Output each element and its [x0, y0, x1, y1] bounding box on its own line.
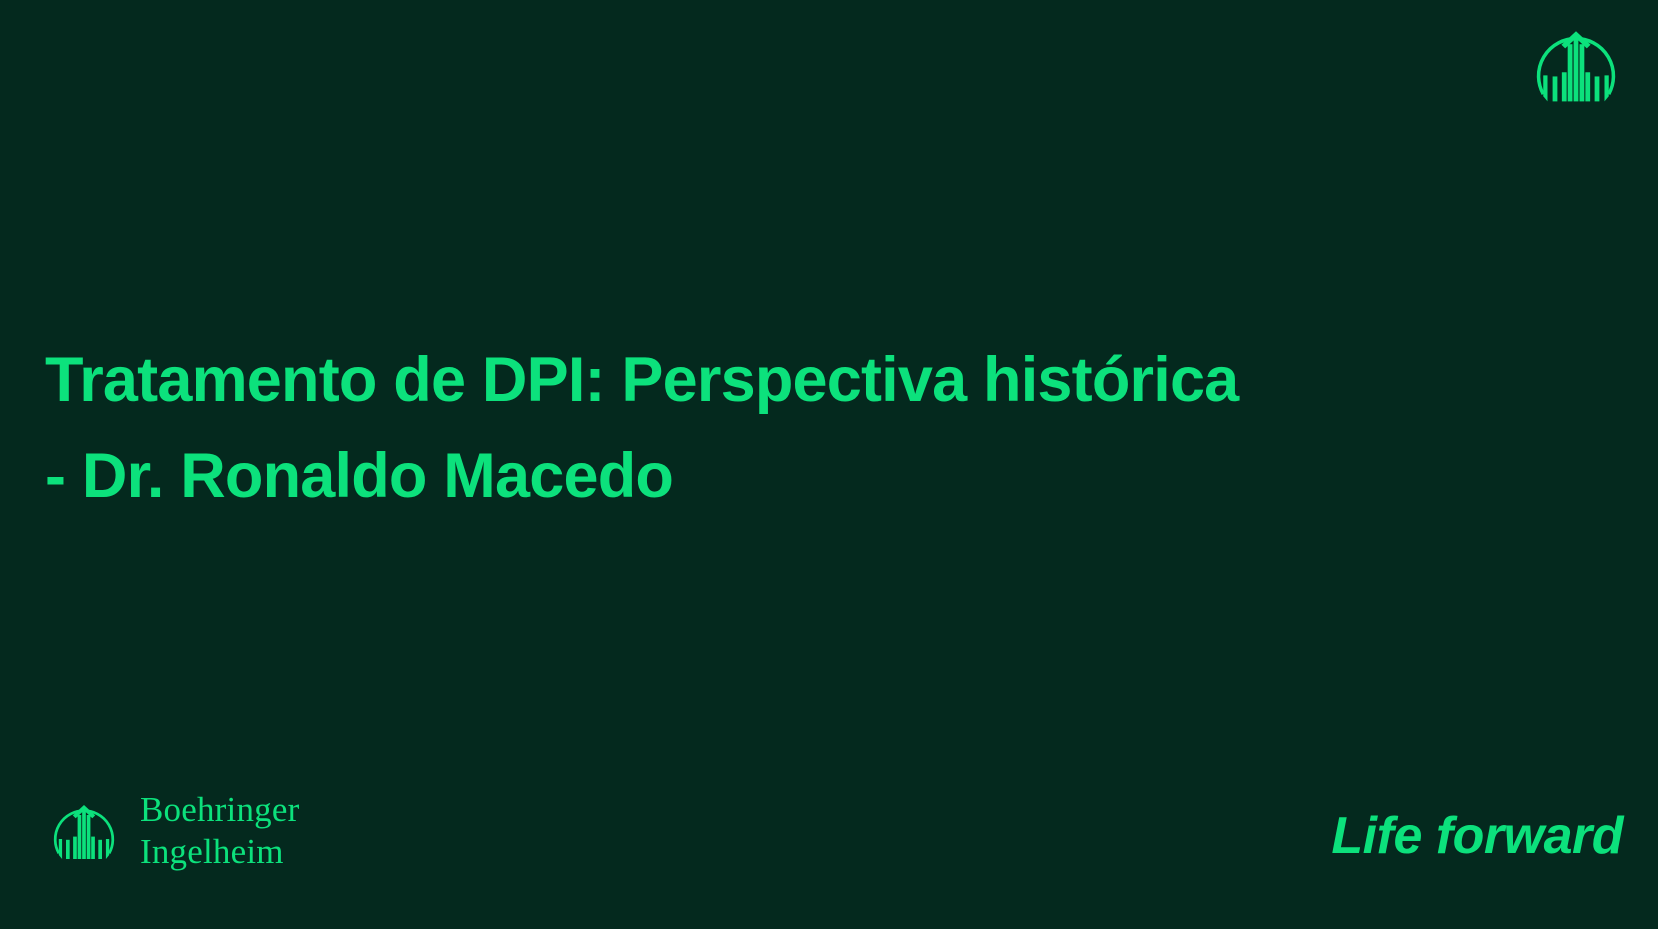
slide-title-line-1: Tratamento de DPI: Perspectiva histórica — [45, 333, 1445, 429]
brand-tagline: Life forward — [1331, 806, 1623, 866]
slide-title: Tratamento de DPI: Perspectiva histórica… — [45, 333, 1445, 525]
brand-logo: Boehringer Ingelheim — [44, 789, 299, 872]
slide-title-line-2: - Dr. Ronaldo Macedo — [45, 429, 1445, 525]
brand-wordmark-line-1: Boehringer — [140, 789, 299, 830]
boehringer-ingelheim-mark-icon — [1524, 13, 1628, 117]
brand-wordmark: Boehringer Ingelheim — [140, 789, 299, 872]
brand-wordmark-line-2: Ingelheim — [140, 831, 299, 872]
boehringer-ingelheim-mark-icon — [44, 791, 124, 871]
title-slide: Tratamento de DPI: Perspectiva histórica… — [0, 0, 1658, 929]
